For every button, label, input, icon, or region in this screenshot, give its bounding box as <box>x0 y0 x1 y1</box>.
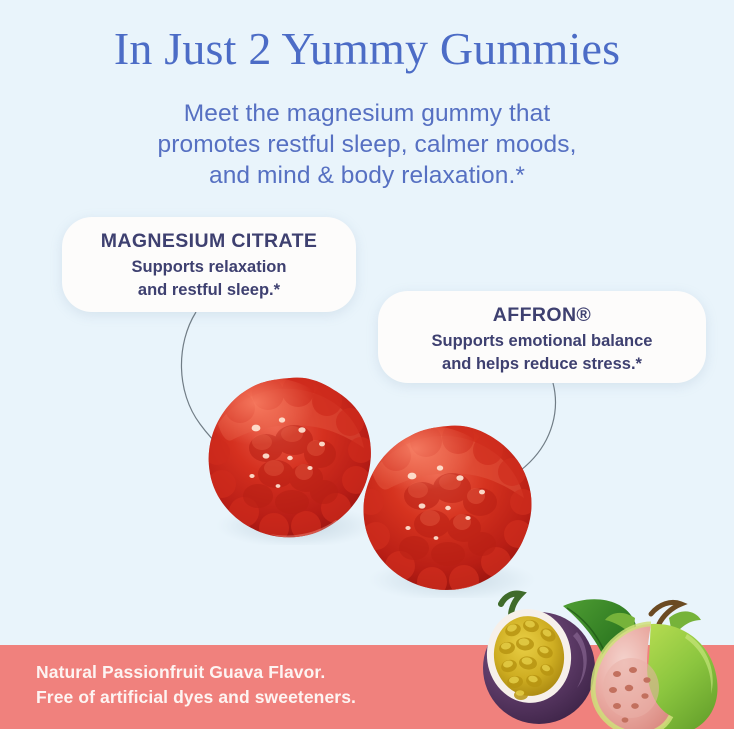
callout-body-line-1: Supports emotional balance <box>378 330 706 353</box>
promo-graphic: In Just 2 Yummy Gummies Meet the magnesi… <box>0 0 734 729</box>
callout-heading: MAGNESIUM CITRATE <box>62 229 356 254</box>
guava <box>593 602 718 729</box>
callout-body: Supports emotional balance and helps red… <box>378 330 706 376</box>
callout-body-line-2: and helps reduce stress.* <box>378 353 706 376</box>
callout-heading: AFFRON® <box>378 303 706 328</box>
gummy-right <box>348 418 546 598</box>
banner-line-1: Natural Passionfruit Guava Flavor. <box>36 660 356 685</box>
callout-magnesium-citrate: MAGNESIUM CITRATE Supports relaxation an… <box>62 217 356 312</box>
callout-affron: AFFRON® Supports emotional balance and h… <box>378 291 706 383</box>
callout-body-line-2: and restful sleep.* <box>62 279 356 302</box>
callout-body: Supports relaxation and restful sleep.* <box>62 256 356 302</box>
banner-line-2: Free of artificial dyes and sweeteners. <box>36 685 356 710</box>
fruit-illustration <box>455 588 734 729</box>
callout-body-line-1: Supports relaxation <box>62 256 356 279</box>
flavor-banner-text: Natural Passionfruit Guava Flavor. Free … <box>36 660 356 710</box>
